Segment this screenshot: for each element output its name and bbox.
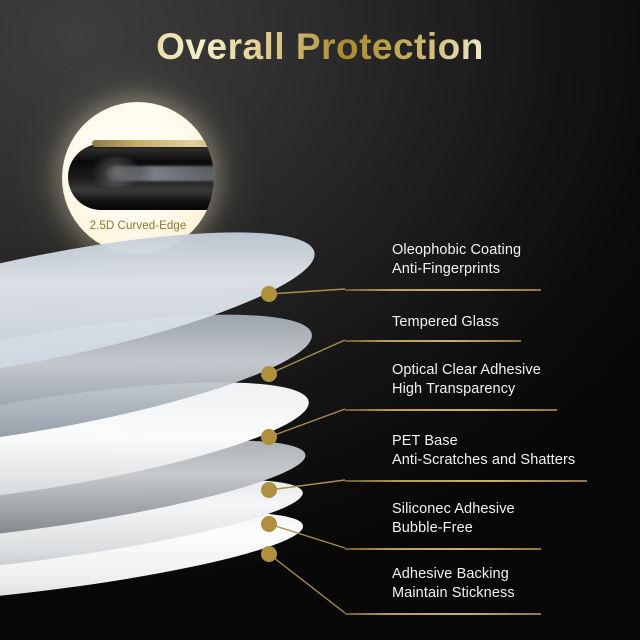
callout-label-tempered-glass: Tempered Glass (392, 313, 499, 332)
callout-rule-siliconec-adhesive (345, 548, 541, 550)
callout-line: Optical Clear Adhesive (392, 361, 541, 380)
callout-line: Siliconec Adhesive (392, 500, 515, 519)
layer-stack-svg (0, 0, 640, 640)
overall-protection-infographic: Overall Protection 2.5D Curved-Edge (0, 0, 640, 640)
callout-line: Anti-Scratches and Shatters (392, 451, 575, 470)
callout-line: Tempered Glass (392, 313, 499, 332)
callout-rule-adhesive-backing (345, 613, 541, 615)
callout-line: Adhesive Backing (392, 565, 515, 584)
callout-rule-optical-clear-adhesive (345, 409, 557, 411)
callout-line: Maintain Stickness (392, 584, 515, 603)
callout-line: Bubble-Free (392, 519, 515, 538)
callout-rule-oleophobic (345, 289, 541, 291)
layer-stack (0, 0, 640, 640)
callout-label-optical-clear-adhesive: Optical Clear Adhesive High Transparency (392, 361, 541, 399)
callout-rule-tempered-glass (345, 340, 521, 342)
callout-label-siliconec-adhesive: Siliconec Adhesive Bubble-Free (392, 500, 515, 538)
callout-label-pet-base: PET Base Anti-Scratches and Shatters (392, 432, 575, 470)
callout-line: PET Base (392, 432, 575, 451)
callout-line: Oleophobic Coating (392, 241, 521, 260)
callout-label-adhesive-backing: Adhesive Backing Maintain Stickness (392, 565, 515, 603)
callout-label-oleophobic: Oleophobic Coating Anti-Fingerprints (392, 241, 521, 279)
callout-line: High Transparency (392, 380, 541, 399)
callout-rule-pet-base (345, 480, 587, 482)
callout-line: Anti-Fingerprints (392, 260, 521, 279)
